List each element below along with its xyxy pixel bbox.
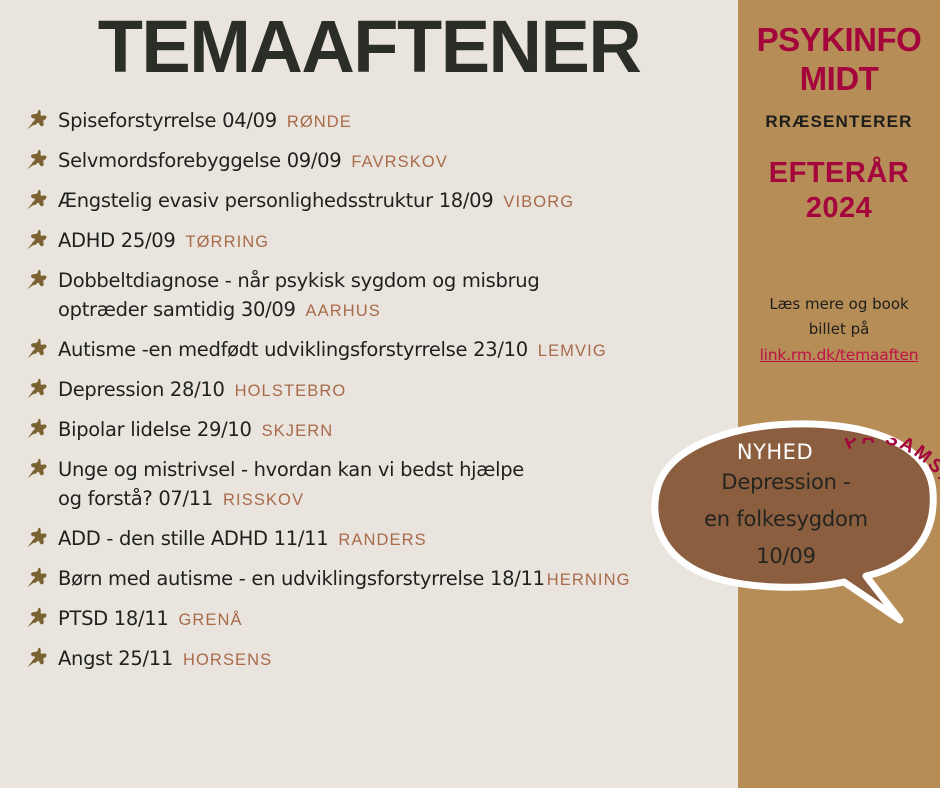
event-title-line2: og forstå? 07/11RISSKOV bbox=[58, 484, 524, 515]
bubble-line-3: 10/09 bbox=[666, 538, 906, 575]
pushpin-icon bbox=[24, 107, 50, 133]
event-city: AARHUS bbox=[306, 302, 381, 320]
event-text: Børn med autisme - en udviklingsforstyrr… bbox=[58, 564, 631, 595]
event-city: HORSENS bbox=[183, 651, 272, 669]
bubble-text-block: NYHED Depression - en folkesygdom 10/09 bbox=[666, 440, 906, 575]
pushpin-icon bbox=[24, 147, 50, 173]
event-text: Bipolar lidelse 29/10SKJERN bbox=[58, 415, 333, 446]
list-item[interactable]: Dobbeltdiagnose - når psykisk sygdom og … bbox=[24, 266, 740, 326]
event-city: SKJERN bbox=[262, 422, 334, 440]
event-title: ADD - den stille ADHD 11/11 bbox=[58, 527, 328, 550]
booking-block: Læs mere og book billet på link.rm.dk/te… bbox=[738, 292, 940, 368]
event-text: Depression 28/10HOLSTEBRO bbox=[58, 375, 346, 406]
poster-canvas: TEMAAFTENER Spiseforstyrrelse 04/09RØNDE… bbox=[0, 0, 940, 788]
event-title: Spiseforstyrrelse 04/09 bbox=[58, 109, 277, 132]
list-item[interactable]: Bipolar lidelse 29/10SKJERN bbox=[24, 415, 740, 446]
event-text: Angst 25/11HORSENS bbox=[58, 644, 272, 675]
event-title: Børn med autisme - en udviklingsforstyrr… bbox=[58, 567, 545, 590]
presents-label: RRÆSENTERER bbox=[738, 112, 940, 132]
list-item[interactable]: Depression 28/10HOLSTEBRO bbox=[24, 375, 740, 406]
pushpin-icon bbox=[24, 416, 50, 442]
pushpin-icon bbox=[24, 645, 50, 671]
list-item[interactable]: Autisme -en medfødt udviklingsforstyrrel… bbox=[24, 335, 740, 366]
event-city: FAVRSKOV bbox=[351, 153, 448, 171]
event-text: Ængstelig evasiv personlighedsstruktur 1… bbox=[58, 186, 574, 217]
page-title: TEMAAFTENER bbox=[0, 6, 738, 88]
list-item[interactable]: ADHD 25/09TØRRING bbox=[24, 226, 740, 257]
brand-line-2: MIDT bbox=[738, 59, 940, 98]
booking-line-1: Læs mere og book bbox=[748, 292, 930, 317]
event-text: Spiseforstyrrelse 04/09RØNDE bbox=[58, 106, 352, 137]
event-city: LEMVIG bbox=[538, 342, 607, 360]
event-city: TØRRING bbox=[185, 233, 269, 251]
pushpin-icon bbox=[24, 456, 50, 482]
event-title-line2: optræder samtidig 30/09AARHUS bbox=[58, 295, 539, 326]
bubble-line-1: Depression - bbox=[666, 464, 906, 501]
event-title: ADHD 25/09 bbox=[58, 229, 175, 252]
pushpin-icon bbox=[24, 267, 50, 293]
event-title: Unge og mistrivsel - hvordan kan vi beds… bbox=[58, 458, 524, 481]
event-subtitle: og forstå? 07/11 bbox=[58, 487, 213, 510]
booking-link[interactable]: link.rm.dk/temaaften bbox=[748, 343, 930, 368]
pushpin-icon bbox=[24, 376, 50, 402]
event-city: RANDERS bbox=[338, 531, 426, 549]
list-item[interactable]: PTSD 18/11GRENÅ bbox=[24, 604, 740, 635]
event-subtitle: optræder samtidig 30/09 bbox=[58, 298, 296, 321]
nyhed-badge: NYHED bbox=[644, 440, 906, 464]
event-title: Depression 28/10 bbox=[58, 378, 225, 401]
event-title: Angst 25/11 bbox=[58, 647, 173, 670]
event-text: Dobbeltdiagnose - når psykisk sygdom og … bbox=[58, 266, 539, 326]
season-line-1: EFTERÅR bbox=[738, 156, 940, 191]
bubble-line-2: en folkesygdom bbox=[666, 501, 906, 538]
pushpin-icon bbox=[24, 565, 50, 591]
booking-line-2: billet på bbox=[748, 317, 930, 342]
event-city: RISSKOV bbox=[223, 491, 304, 509]
list-item[interactable]: Spiseforstyrrelse 04/09RØNDE bbox=[24, 106, 740, 137]
event-text: ADD - den stille ADHD 11/11RANDERS bbox=[58, 524, 427, 555]
event-city: HOLSTEBRO bbox=[235, 382, 347, 400]
sidebar: PSYKINFO MIDT RRÆSENTERER EFTERÅR 2024 L… bbox=[738, 0, 940, 788]
pushpin-icon bbox=[24, 187, 50, 213]
event-city: VIBORG bbox=[503, 193, 574, 211]
event-title: Autisme -en medfødt udviklingsforstyrrel… bbox=[58, 338, 528, 361]
pushpin-icon bbox=[24, 336, 50, 362]
news-speech-bubble[interactable]: NYHED Depression - en folkesygdom 10/09 … bbox=[648, 420, 940, 635]
event-title: PTSD 18/11 bbox=[58, 607, 168, 630]
event-city: GRENÅ bbox=[178, 611, 242, 629]
pushpin-icon bbox=[24, 605, 50, 631]
event-text: Selvmordsforebyggelse 09/09FAVRSKOV bbox=[58, 146, 448, 177]
list-item[interactable]: Unge og mistrivsel - hvordan kan vi beds… bbox=[24, 455, 740, 515]
event-title: Bipolar lidelse 29/10 bbox=[58, 418, 252, 441]
event-text: Unge og mistrivsel - hvordan kan vi beds… bbox=[58, 455, 524, 515]
list-item[interactable]: Ængstelig evasiv personlighedsstruktur 1… bbox=[24, 186, 740, 217]
event-list: Spiseforstyrrelse 04/09RØNDE Selvmordsfo… bbox=[24, 106, 740, 684]
list-item[interactable]: ADD - den stille ADHD 11/11RANDERS bbox=[24, 524, 740, 555]
event-text: PTSD 18/11GRENÅ bbox=[58, 604, 243, 635]
brand-line-1: PSYKINFO bbox=[738, 20, 940, 59]
brand-block: PSYKINFO MIDT bbox=[738, 0, 940, 98]
list-item[interactable]: Angst 25/11HORSENS bbox=[24, 644, 740, 675]
event-text: ADHD 25/09TØRRING bbox=[58, 226, 269, 257]
event-city: RØNDE bbox=[287, 113, 352, 131]
event-title: Ængstelig evasiv personlighedsstruktur 1… bbox=[58, 189, 493, 212]
event-city: HERNING bbox=[547, 571, 631, 589]
list-item[interactable]: Børn med autisme - en udviklingsforstyrr… bbox=[24, 564, 740, 595]
pushpin-icon bbox=[24, 525, 50, 551]
event-title: Selvmordsforebyggelse 09/09 bbox=[58, 149, 341, 172]
season-block: EFTERÅR 2024 bbox=[738, 156, 940, 226]
event-text: Autisme -en medfødt udviklingsforstyrrel… bbox=[58, 335, 607, 366]
event-title: Dobbeltdiagnose - når psykisk sygdom og … bbox=[58, 269, 539, 292]
pushpin-icon bbox=[24, 227, 50, 253]
list-item[interactable]: Selvmordsforebyggelse 09/09FAVRSKOV bbox=[24, 146, 740, 177]
season-line-2: 2024 bbox=[738, 191, 940, 226]
